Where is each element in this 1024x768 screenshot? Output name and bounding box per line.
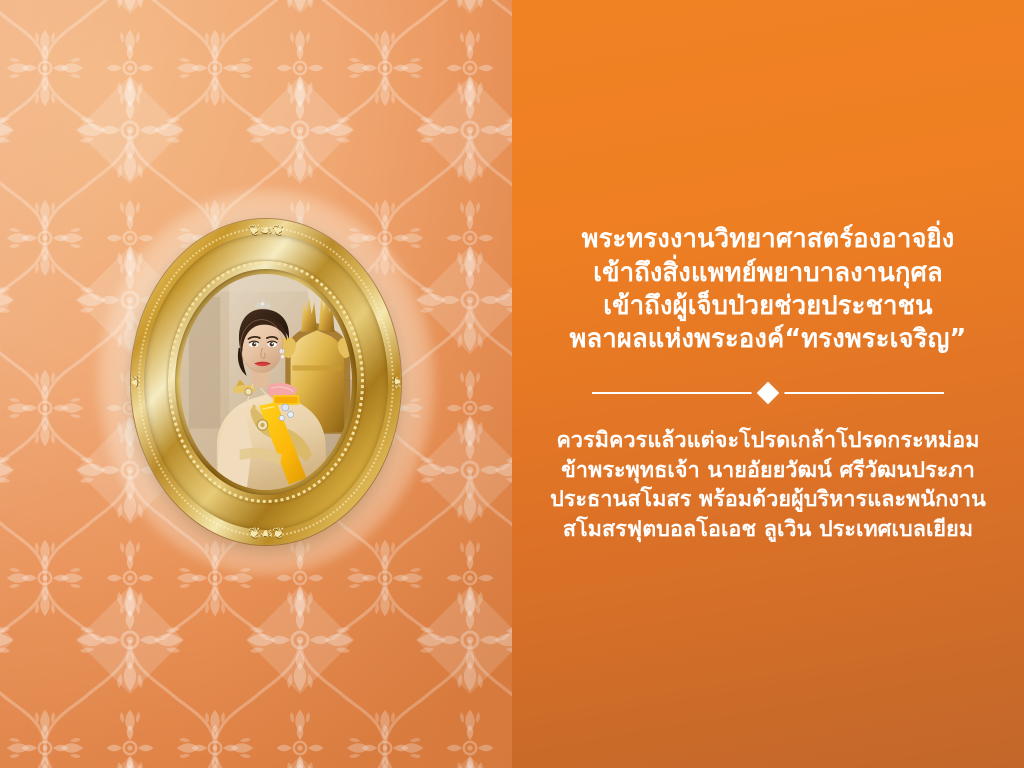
- signoff-line-1: ควรมิควรแล้วแต่จะโปรดเกล้าโปรดกระหม่อม: [528, 426, 1008, 456]
- verse-line-4: พลาผลแห่งพระองค์“ทรงพระเจริญ”: [530, 323, 1006, 356]
- frame-ornament-right: ☙: [389, 376, 401, 388]
- verse-line-2: เข้าถึงสิ่งแพทย์พยาบาลงานกุศล: [530, 257, 1006, 290]
- signoff-block: ควรมิควรแล้วแต่จะโปรดเกล้าโปรดกระหม่อม ข…: [512, 426, 1024, 545]
- tribute-card-canvas: ❦☙❦ ❦☙❦ ☙ ☙ พระทรงงานวิทยาศาสตร์องอาจยิ่…: [0, 0, 1024, 768]
- signoff-line-2: ข้าพระพุทธเจ้า นายอัยยวัฒน์ ศรีวัฒนประภา: [528, 456, 1008, 486]
- left-decorative-panel: ❦☙❦ ❦☙❦ ☙ ☙: [0, 0, 512, 768]
- divider-diamond-icon: [757, 382, 780, 405]
- signoff-line-3: ประธานสโมสร พร้อมด้วยผู้บริหารและพนักงาน: [528, 485, 1008, 515]
- portrait-frame: ❦☙❦ ❦☙❦ ☙ ☙: [131, 219, 401, 545]
- verse-line-1: พระทรงงานวิทยาศาสตร์องอาจยิ่ง: [530, 223, 1006, 256]
- diamond-divider: [592, 380, 944, 406]
- frame-middle-ring: [144, 234, 388, 530]
- frame-ornament-top: ❦☙❦: [248, 223, 284, 238]
- verse-block: พระทรงงานวิทยาศาสตร์องอาจยิ่ง เข้าถึงสิ่…: [512, 223, 1024, 356]
- royal-portrait-image: [180, 274, 352, 490]
- right-text-panel: พระทรงงานวิทยาศาสตร์องอาจยิ่ง เข้าถึงสิ่…: [512, 0, 1024, 768]
- signoff-line-4: สโมสรฟุตบอลโอเอช ลูเวิน ประเทศเบลเยียม: [528, 515, 1008, 545]
- frame-ornament-bottom: ❦☙❦: [248, 526, 284, 541]
- frame-ornament-left: ☙: [131, 376, 143, 388]
- frame-beaded-ring: [168, 261, 364, 503]
- verse-line-3: เข้าถึงผู้เจ็บป่วยช่วยประชาชน: [530, 290, 1006, 323]
- frame-inner-lip: [175, 269, 357, 495]
- frame-outer-ring: ❦☙❦ ❦☙❦ ☙ ☙: [131, 219, 401, 545]
